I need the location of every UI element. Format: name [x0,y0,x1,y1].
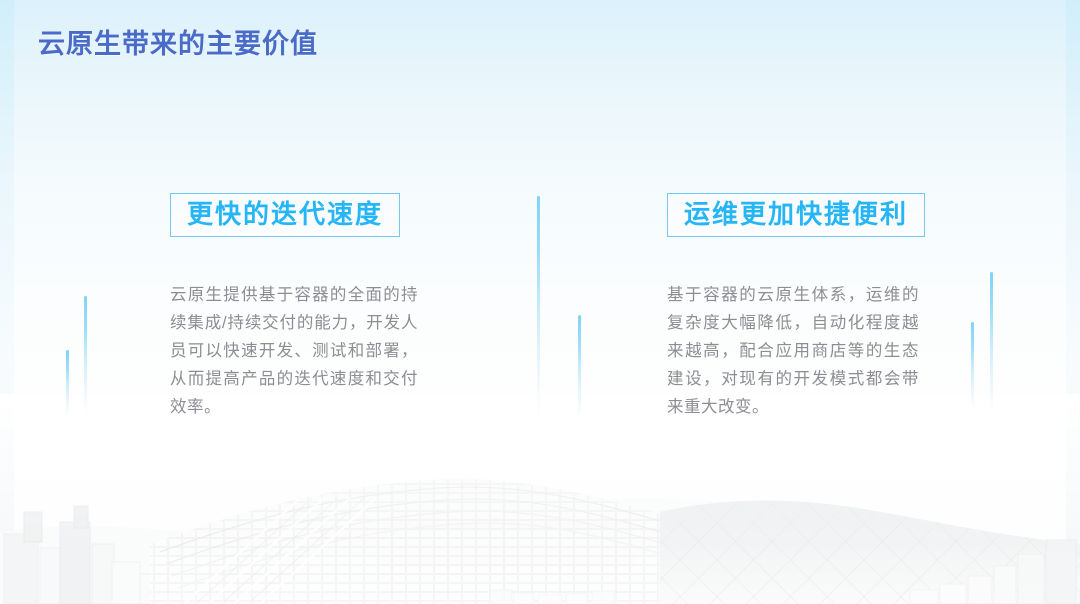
column-2-heading: 运维更加快捷便利 [667,193,925,237]
column-1-body: 云原生提供基于容器的全面的持续集成/持续交付的能力，开发人员可以快速开发、测试和… [170,281,418,421]
page-title: 云原生带来的主要价值 [38,22,318,61]
bottom-terrain-decoration [0,394,1080,604]
accent-bar-right-tall [990,272,993,412]
slide-canvas: 云原生带来的主要价值 更快的迭代速度 云原生提供基于容器的全面的持续集成/持续交… [0,0,1080,604]
column-1-heading: 更快的迭代速度 [170,193,400,237]
accent-bar-center-tall [537,196,540,418]
accent-bar-left-tall [84,296,87,414]
accent-bar-center-short [578,315,581,419]
accent-bar-right-short [971,322,974,410]
left-edge-tint [0,0,14,604]
column-2-body: 基于容器的云原生体系，运维的复杂度大幅降低，自动化程度越来越高，配合应用商店等的… [667,281,919,421]
accent-bar-left-short [66,350,69,416]
value-column-2: 运维更加快捷便利 基于容器的云原生体系，运维的复杂度大幅降低，自动化程度越来越高… [667,193,967,421]
right-edge-tint [1066,0,1080,604]
value-column-1: 更快的迭代速度 云原生提供基于容器的全面的持续集成/持续交付的能力，开发人员可以… [170,193,470,421]
